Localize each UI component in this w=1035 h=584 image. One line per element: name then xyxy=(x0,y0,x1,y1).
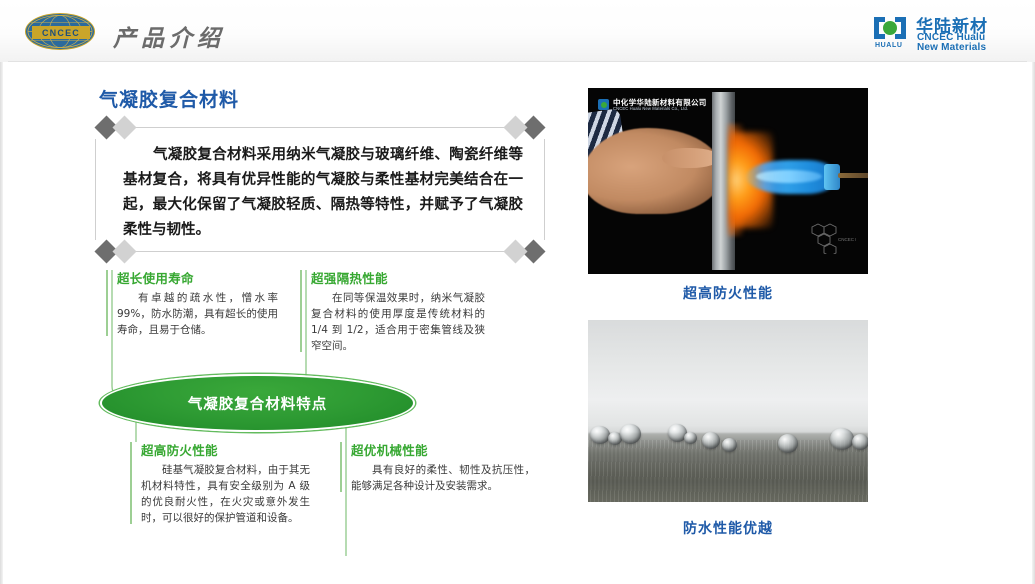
feature-title: 超强隔热性能 xyxy=(311,268,485,287)
water-droplet xyxy=(722,438,737,452)
page-edge-left xyxy=(0,0,3,584)
hualu-mark-icon xyxy=(871,14,909,42)
photo-water-repellency xyxy=(588,320,868,502)
diagram-center-node: 气凝胶复合材料特点 xyxy=(100,374,415,432)
feature-body: 硅基气凝胶复合材料，由于其无机材料特性，具有安全级别为 A 级的优良耐火性，在火… xyxy=(141,462,310,526)
photo-caption-fire: 超高防火性能 xyxy=(588,283,868,303)
photo-fire-test: 中化学华陆新材料有限公司 CNCEC Hualu New Materials C… xyxy=(588,88,868,274)
cncec-wordmark: CNCEC xyxy=(42,28,80,38)
corner-diamond-icon xyxy=(503,115,527,139)
hualu-en-line2: New Materials xyxy=(917,42,986,53)
torch-flame-core xyxy=(756,170,822,183)
hualu-latin-mark: HUALU xyxy=(875,42,903,49)
hand-shape xyxy=(588,128,722,214)
feature-body: 在同等保温效果时，纳米气凝胶复合材料的使用厚度是传统材料的 1/4 到 1/2，… xyxy=(311,290,485,354)
slide-canvas: CNCEC 产品介绍 HUALU 华陆新材 CNCEC Hualu New Ma… xyxy=(0,0,1035,584)
water-droplet xyxy=(830,428,854,450)
feature-title: 超高防火性能 xyxy=(141,440,310,459)
description-text: 气凝胶复合材料采用纳米气凝胶与玻璃纤维、陶瓷纤维等基材复合，将具有优异性能的气凝… xyxy=(123,143,523,243)
torch-tube-shape xyxy=(838,173,868,178)
page-title: 产品介绍 xyxy=(113,19,225,53)
cncec-logo: CNCEC xyxy=(25,13,95,50)
frame-line-right xyxy=(544,139,545,240)
water-droplet xyxy=(702,432,720,449)
photo-caption-water: 防水性能优越 xyxy=(588,518,868,538)
feature-accent-bar xyxy=(130,442,132,524)
frame-line-top xyxy=(113,127,527,128)
feature-item-thermal: 超强隔热性能 在同等保温效果时，纳米气凝胶复合材料的使用厚度是传统材料的 1/4… xyxy=(300,268,485,354)
feature-item-fire: 超高防火性能 硅基气凝胶复合材料，由于其无机材料特性，具有安全级别为 A 级的优… xyxy=(130,440,310,526)
diagram-center-label: 气凝胶复合材料特点 xyxy=(188,393,328,414)
header-divider xyxy=(8,61,1027,62)
feature-title: 超优机械性能 xyxy=(351,440,535,459)
corner-diamond-icon xyxy=(112,115,136,139)
photo-logo-en-text: CNCEC Hualu New Materials Co., Ltd. xyxy=(613,106,688,111)
features-diagram: 气凝胶复合材料特点 超长使用寿命 有卓越的疏水性，憎水率99%，防水防潮，具有超… xyxy=(90,258,560,568)
hualu-logo: HUALU 华陆新材 CNCEC Hualu New Materials xyxy=(871,12,1019,52)
cncec-wordmark-band: CNCEC xyxy=(32,26,90,39)
feature-accent-bar xyxy=(106,270,108,336)
feature-body: 有卓越的疏水性，憎水率99%，防水防潮，具有超长的使用寿命，且易于仓储。 xyxy=(117,290,278,338)
feature-title: 超长使用寿命 xyxy=(117,268,278,287)
photo-logo-dot-icon xyxy=(601,102,607,108)
water-droplet xyxy=(778,434,798,453)
photo-watermark-icon: CNCEC Hualu xyxy=(808,220,856,254)
water-droplet xyxy=(620,424,641,444)
svg-text:CNCEC Hualu: CNCEC Hualu xyxy=(838,237,856,242)
section-title: 气凝胶复合材料 xyxy=(99,85,239,112)
feature-accent-bar xyxy=(340,442,342,492)
water-droplet xyxy=(684,432,697,444)
water-droplet xyxy=(590,426,610,444)
feature-accent-bar xyxy=(300,270,302,352)
frame-line-bottom xyxy=(113,251,527,252)
cncec-globe-icon: CNCEC xyxy=(25,13,95,50)
description-box: 气凝胶复合材料采用纳米气凝胶与玻璃纤维、陶瓷纤维等基材复合，将具有优异性能的气凝… xyxy=(95,127,545,252)
feature-item-mechanical: 超优机械性能 具有良好的柔性、韧性及抗压性，能够满足各种设计及安装需求。 xyxy=(340,440,535,494)
feature-item-life: 超长使用寿命 有卓越的疏水性，憎水率99%，防水防潮，具有超长的使用寿命，且易于… xyxy=(106,268,278,338)
slide-header: CNCEC 产品介绍 HUALU 华陆新材 CNCEC Hualu New Ma… xyxy=(0,0,1035,62)
water-droplet xyxy=(852,434,868,450)
feature-body: 具有良好的柔性、韧性及抗压性，能够满足各种设计及安装需求。 xyxy=(351,462,535,494)
frame-line-left xyxy=(95,139,96,240)
